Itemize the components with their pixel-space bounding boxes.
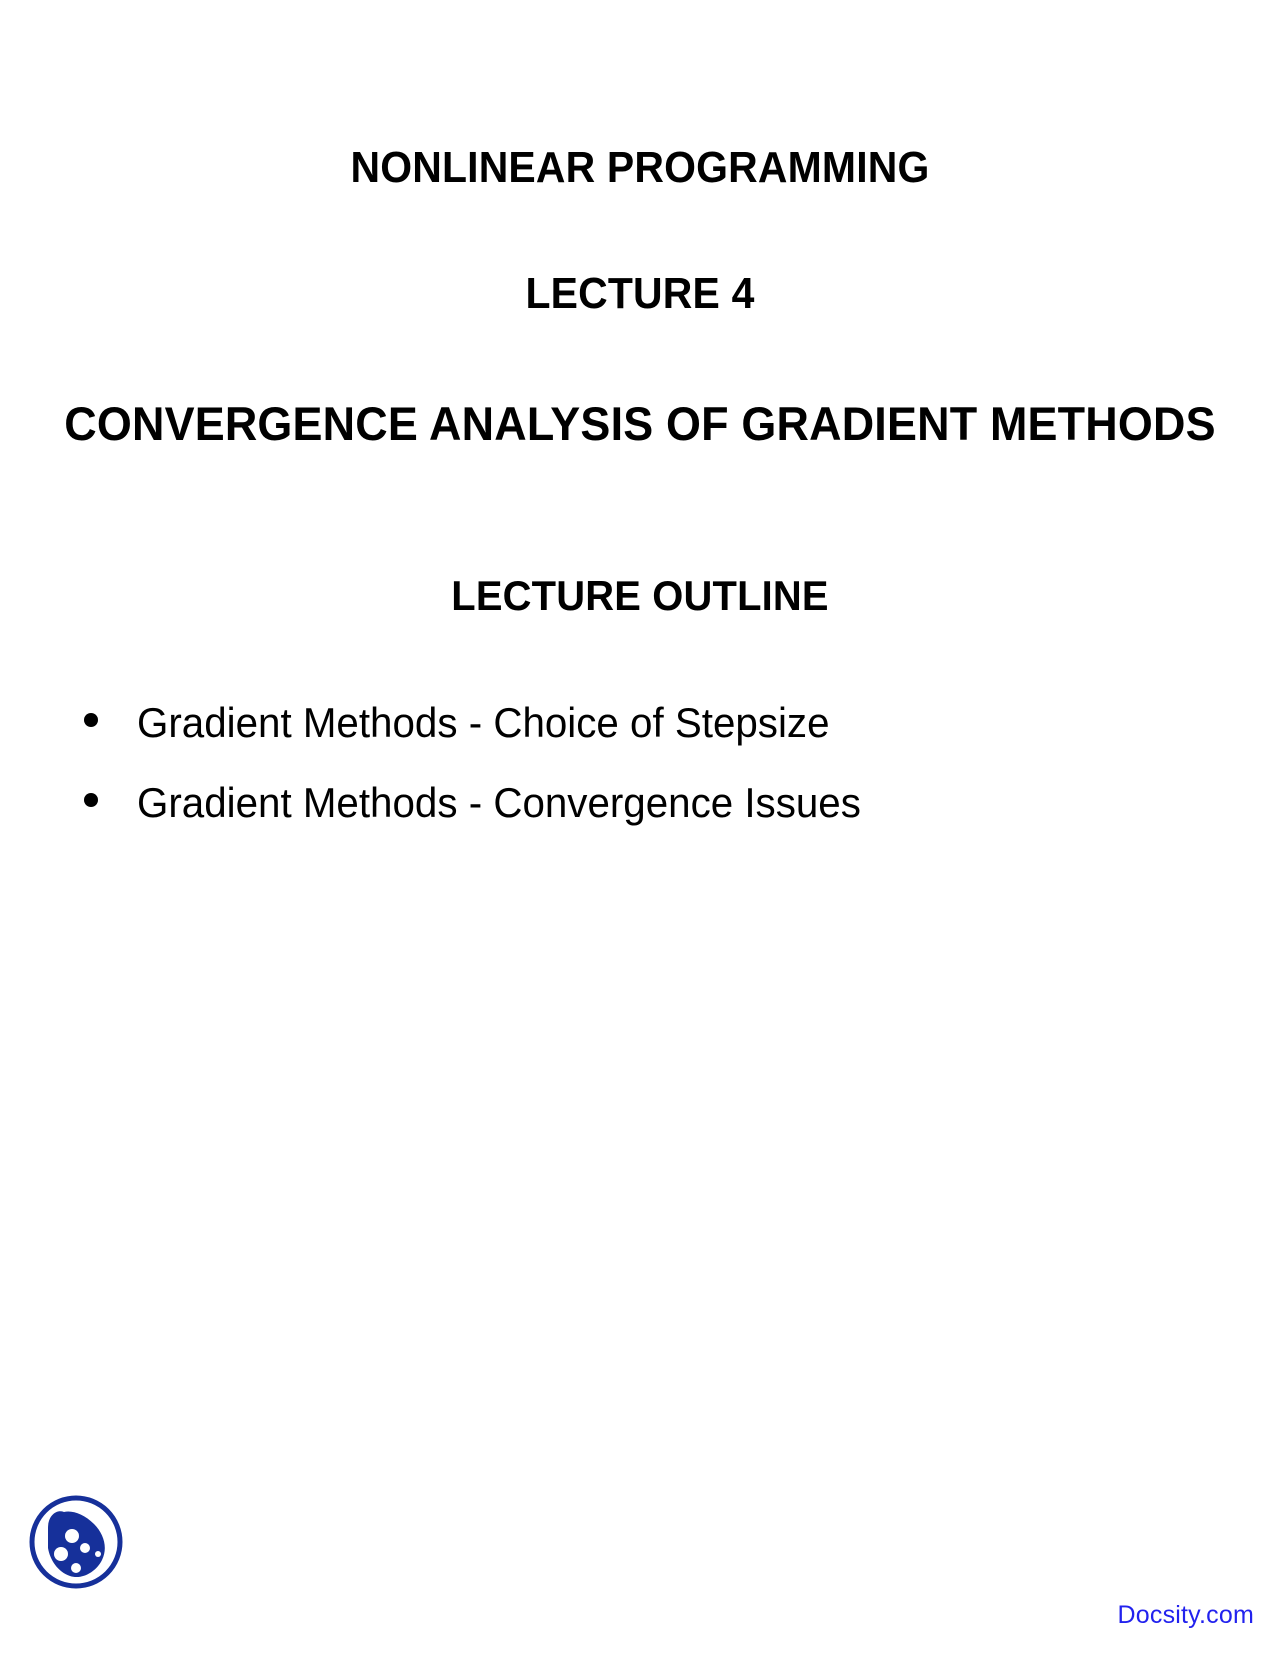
bullet-dot-icon xyxy=(84,793,98,807)
list-item: Gradient Methods - Convergence Issues xyxy=(84,782,1184,824)
list-item-label: Gradient Methods - Convergence Issues xyxy=(137,782,861,824)
docsity-cookie-logo xyxy=(26,1486,126,1594)
lecture-outline-heading: LECTURE OUTLINE xyxy=(32,575,1248,617)
list-item-label: Gradient Methods - Choice of Stepsize xyxy=(137,702,830,744)
lecture-outline-list: Gradient Methods - Choice of Stepsize Gr… xyxy=(84,702,1184,862)
bullet-dot-icon xyxy=(84,713,98,727)
lecture-number-heading: LECTURE 4 xyxy=(45,272,1235,316)
page-title: NONLINEAR PROGRAMMING xyxy=(45,146,1235,190)
docsity-url-label[interactable]: Docsity.com xyxy=(1118,1601,1254,1630)
lecture-subject-heading: CONVERGENCE ANALYSIS OF GRADIENT METHODS xyxy=(29,400,1251,447)
list-item: Gradient Methods - Choice of Stepsize xyxy=(84,702,1184,744)
slide-page: NONLINEAR PROGRAMMING LECTURE 4 CONVERGE… xyxy=(0,0,1280,1656)
